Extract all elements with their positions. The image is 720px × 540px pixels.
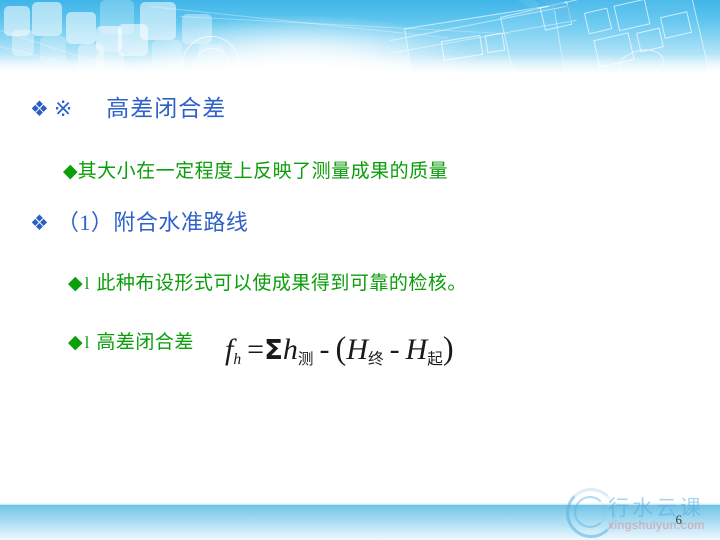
formula-paren-close: ) [443,331,454,367]
bullet-line-3: ❖ （1）附合水准路线 [30,205,248,237]
bullet-line-1: ❖ ※ 高差闭合差 [30,89,226,123]
page-number: 6 [676,512,683,528]
bullet-line-4: ◆ l 此种布设形式可以使成果得到可靠的检核。 [68,268,467,295]
diamond-icon: ◆ [63,162,78,181]
formula-minus-1: - [320,333,330,366]
line-3-text: （1）附合水准路线 [57,205,249,237]
formula-H-end-subscript: 终 [368,351,384,368]
formula-H-start-subscript: 起 [427,351,443,368]
formula-minus-2: - [390,333,400,366]
bullet-line-2: ◆ 其大小在一定程度上反映了测量成果的质量 [63,156,448,183]
diamond-cluster-icon: ❖ [30,99,49,120]
slide-header-banner [0,0,720,76]
slide-body: ❖ ※ 高差闭合差 ◆ 其大小在一定程度上反映了测量成果的质量 ❖ （1）附合水… [0,76,720,496]
formula-H-start: H [406,333,428,366]
line-1-text: 高差闭合差 [106,89,226,123]
diamond-icon: ◆ [68,333,83,352]
banner-square [66,12,96,44]
height-closure-error-formula: fh=Σh测-(H终-H起) [225,331,454,369]
formula-f-subscript: h [233,351,241,368]
line-5-marker: l [85,333,90,353]
diamond-cluster-icon: ❖ [30,213,49,234]
banner-square [96,26,122,52]
line-4-marker: l [85,274,90,294]
banner-bottom-fade [0,54,720,76]
slide: ❖ ※ 高差闭合差 ◆ 其大小在一定程度上反映了测量成果的质量 ❖ （1）附合水… [0,0,720,540]
bullet-line-5: ◆ l 高差闭合差 [68,327,194,354]
slide-footer-bar [0,505,720,540]
line-5-text: 高差闭合差 [96,327,194,354]
formula-paren-open: ( [336,331,347,367]
formula-equals: = [247,333,264,366]
formula-h: h [283,333,298,366]
banner-square [32,2,62,36]
line-4-text: 此种布设形式可以使成果得到可靠的检核。 [96,268,467,295]
formula-H-end: H [346,333,368,366]
formula-sigma: Σ [264,333,283,366]
reference-mark-icon: ※ [54,96,72,122]
line-2-text: 其大小在一定程度上反映了测量成果的质量 [78,156,449,183]
diamond-icon: ◆ [68,274,83,293]
formula-h-subscript: 测 [298,351,314,368]
